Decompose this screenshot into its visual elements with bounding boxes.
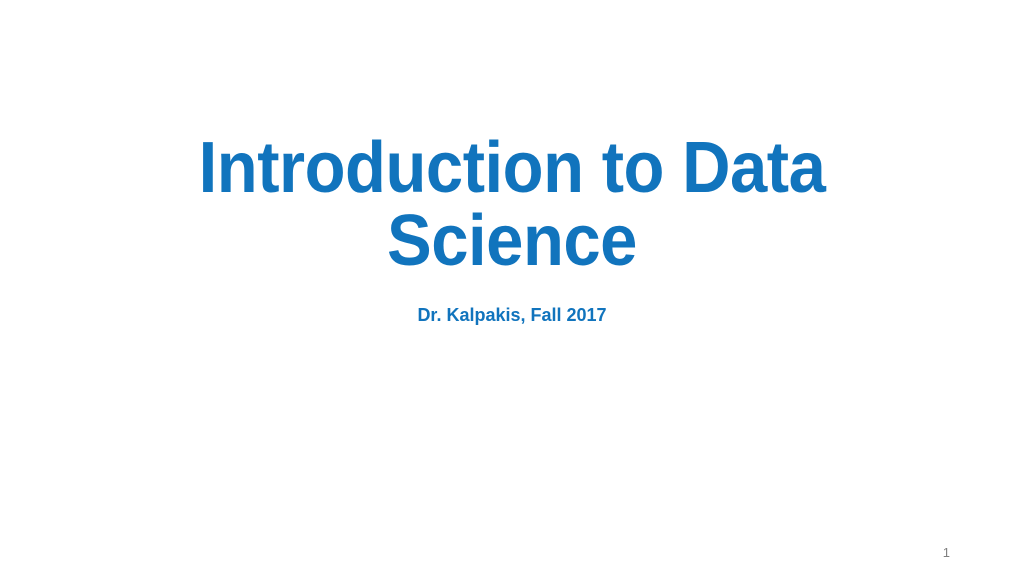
page-title: Introduction to Data Science xyxy=(147,132,876,279)
title-block: Introduction to Data Science Dr. Kalpaki… xyxy=(120,132,904,326)
page-number: 1 xyxy=(943,546,950,559)
slide-canvas: Introduction to Data Science Dr. Kalpaki… xyxy=(0,0,1024,575)
slide-subtitle: Dr. Kalpakis, Fall 2017 xyxy=(120,279,904,327)
